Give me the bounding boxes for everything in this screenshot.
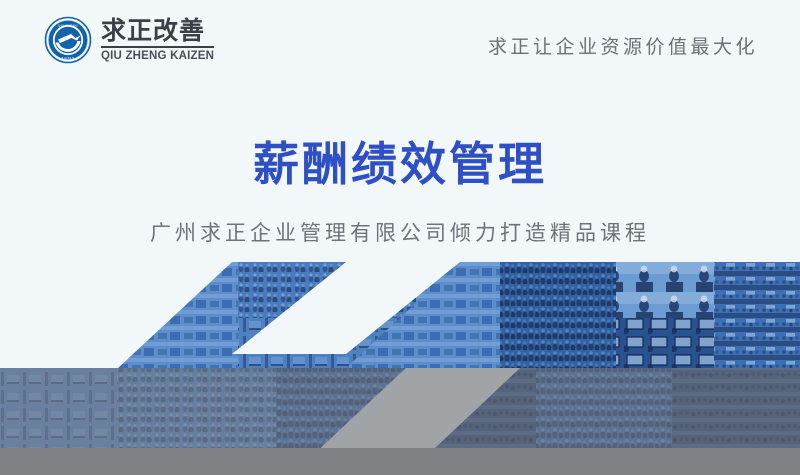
svg-text:KAIZEN: KAIZEN bbox=[62, 56, 75, 60]
title-block: 薪酬绩效管理 广州求正企业管理有限公司倾力打造精品课程 bbox=[0, 138, 800, 247]
brand-divider-rule bbox=[101, 46, 214, 48]
collage-artwork bbox=[0, 262, 800, 475]
photo-collage bbox=[0, 262, 800, 475]
slide-header: QIU ZHENG KAIZEN 求正改善 QIU ZHENG KAIZEN 求… bbox=[0, 0, 800, 92]
brand-text-block: 求正改善 QIU ZHENG KAIZEN bbox=[101, 18, 214, 62]
brand-lockup[interactable]: QIU ZHENG KAIZEN 求正改善 QIU ZHENG KAIZEN bbox=[44, 16, 214, 64]
svg-text:QIU ZHENG: QIU ZHENG bbox=[58, 24, 78, 28]
slide-canvas: QIU ZHENG KAIZEN 求正改善 QIU ZHENG KAIZEN 求… bbox=[0, 0, 800, 475]
course-subtitle: 广州求正企业管理有限公司倾力打造精品课程 bbox=[0, 217, 800, 247]
qiuzheng-circular-emblem-icon: QIU ZHENG KAIZEN bbox=[44, 16, 92, 64]
brand-name-en: QIU ZHENG KAIZEN bbox=[101, 50, 214, 62]
emblem-svg: QIU ZHENG KAIZEN bbox=[44, 16, 92, 64]
bottom-gray-bar bbox=[0, 448, 800, 475]
company-tagline: 求正让企业资源价值最大化 bbox=[488, 32, 758, 59]
brand-name-cn: 求正改善 bbox=[101, 18, 214, 44]
course-title: 薪酬绩效管理 bbox=[0, 138, 800, 191]
